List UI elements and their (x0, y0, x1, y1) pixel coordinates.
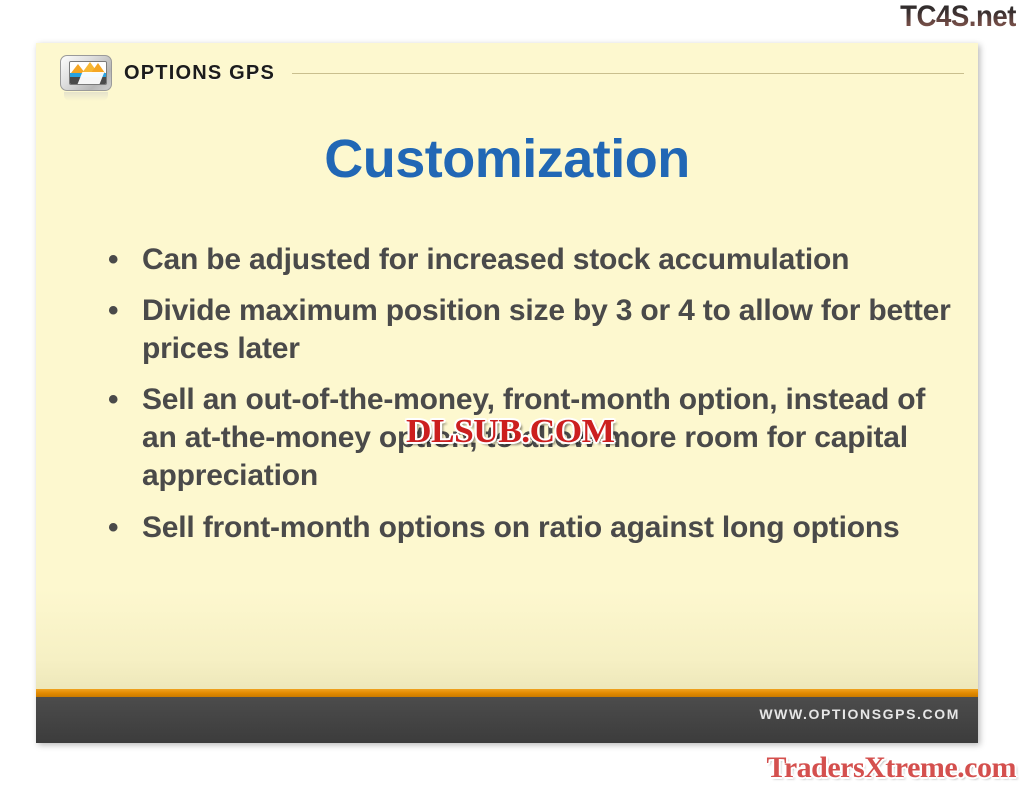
bullet-marker-icon: • (108, 509, 118, 547)
presentation-slide: Options GPS Customization • Can be adjus… (36, 43, 978, 743)
footer-accent-line (36, 689, 978, 697)
watermark-dlsub: DLSUB.COM (406, 413, 614, 451)
header-divider-rule (292, 73, 964, 74)
slide-footer-bar: www.OptionsGPS.com (36, 697, 978, 743)
slide-header: Options GPS (36, 43, 978, 101)
logo-wordmark: Options GPS (124, 62, 275, 85)
bullet-marker-icon: • (108, 292, 118, 330)
bullet-item-1: • Can be adjusted for increased stock ac… (94, 241, 954, 279)
gps-device-icon (60, 55, 112, 93)
slide-title: Customization (36, 128, 978, 190)
bullet-list: • Can be adjusted for increased stock ac… (94, 241, 954, 560)
bullet-marker-icon: • (108, 381, 118, 419)
bullet-item-4: • Sell front-month options on ratio agai… (94, 509, 954, 547)
gps-device-screen (69, 61, 107, 85)
watermark-tradersxtreme: TradersXtreme.com (767, 751, 1016, 785)
bullet-item-2: • Divide maximum position size by 3 or 4… (94, 292, 954, 368)
gps-device-reflection (64, 92, 108, 101)
bullet-text: Can be adjusted for increased stock accu… (142, 243, 849, 276)
bullet-marker-icon: • (108, 241, 118, 279)
gps-device-body (60, 55, 112, 91)
bullet-text: Sell front-month options on ratio agains… (142, 511, 899, 544)
footer-url-text: www.OptionsGPS.com (759, 706, 960, 722)
site-brand-tc4s: TC4S.net (900, 2, 1016, 32)
bullet-text: Divide maximum position size by 3 or 4 t… (142, 294, 951, 365)
